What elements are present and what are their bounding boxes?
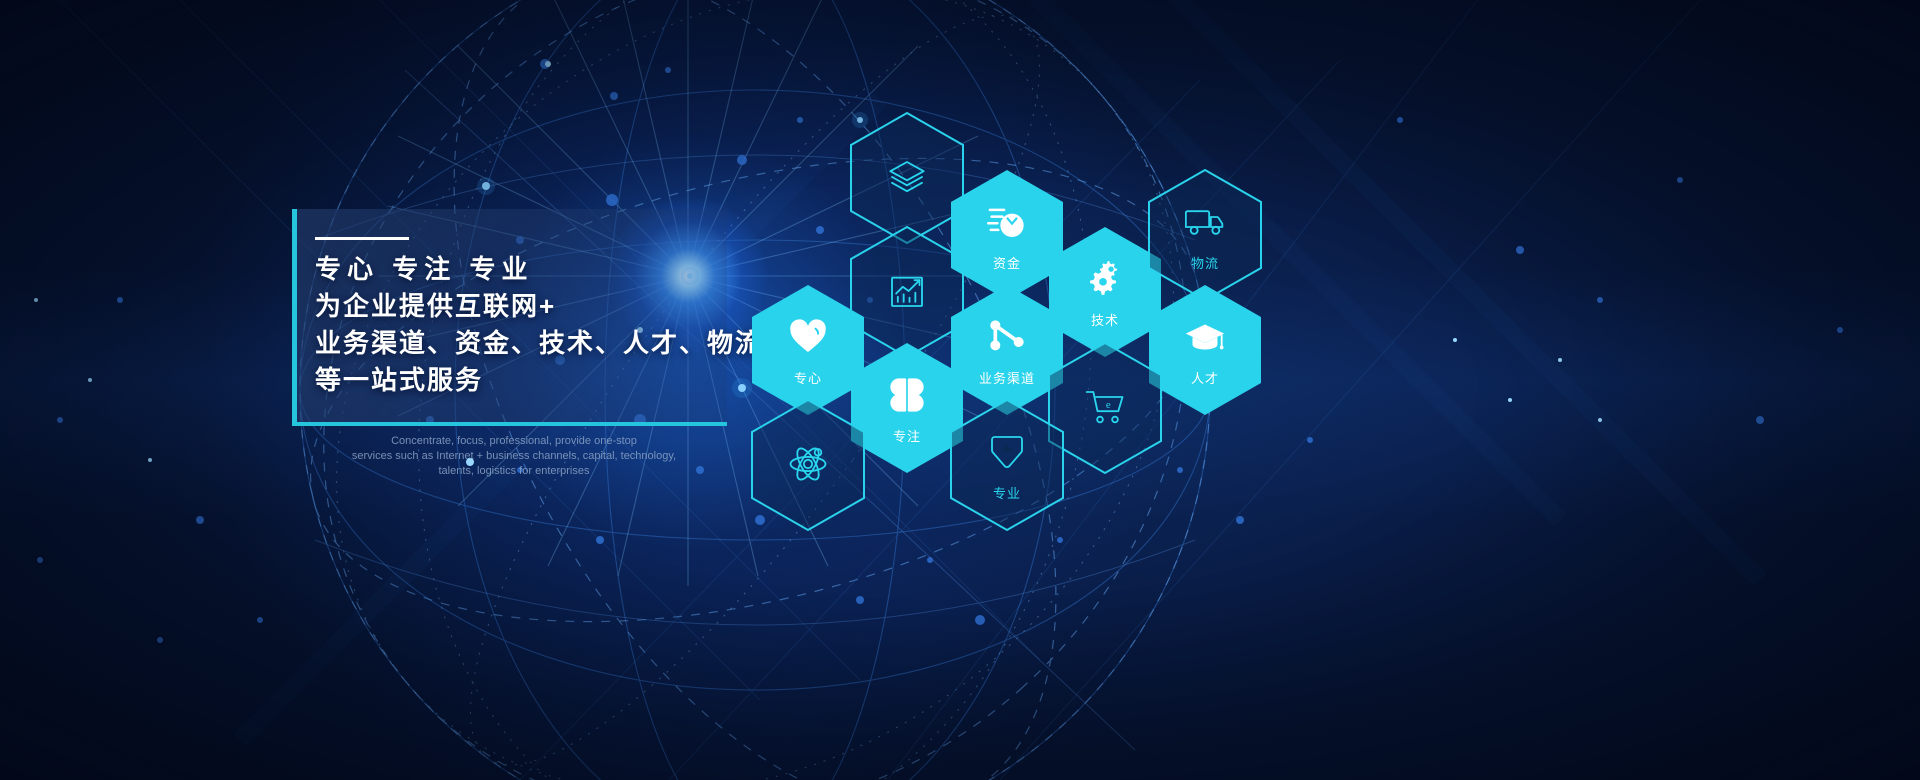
truck-icon [1147, 200, 1263, 244]
layers-icon [849, 155, 965, 199]
atom-icon [750, 442, 866, 486]
hex-pro[interactable]: 专业 [949, 398, 1065, 532]
hex-label-pro: 专业 [949, 483, 1065, 502]
hex-logistics[interactable]: 物流 [1147, 168, 1263, 302]
hex-growth[interactable] [849, 225, 965, 359]
clover-icon [849, 373, 965, 417]
diamond-icon [949, 430, 1065, 474]
hex-atom[interactable] [750, 398, 866, 532]
hex-label-logistics: 物流 [1147, 253, 1263, 272]
chart-growth-icon [849, 269, 965, 313]
hexagon-cluster: 资金技术物流专心业务渠道人才专注专业 [0, 0, 1920, 780]
hex-talents[interactable]: 人才 [1147, 283, 1263, 417]
hex-focus[interactable]: 专注 [849, 341, 965, 475]
hex-label-talents: 人才 [1147, 368, 1263, 387]
hex-label-focus: 专注 [849, 426, 965, 445]
graduation-cap-icon [1147, 315, 1263, 359]
banner-stage: 专心 专注 专业 为企业提供互联网+ 业务渠道、资金、技术、人才、物流 等一站式… [0, 0, 1920, 780]
